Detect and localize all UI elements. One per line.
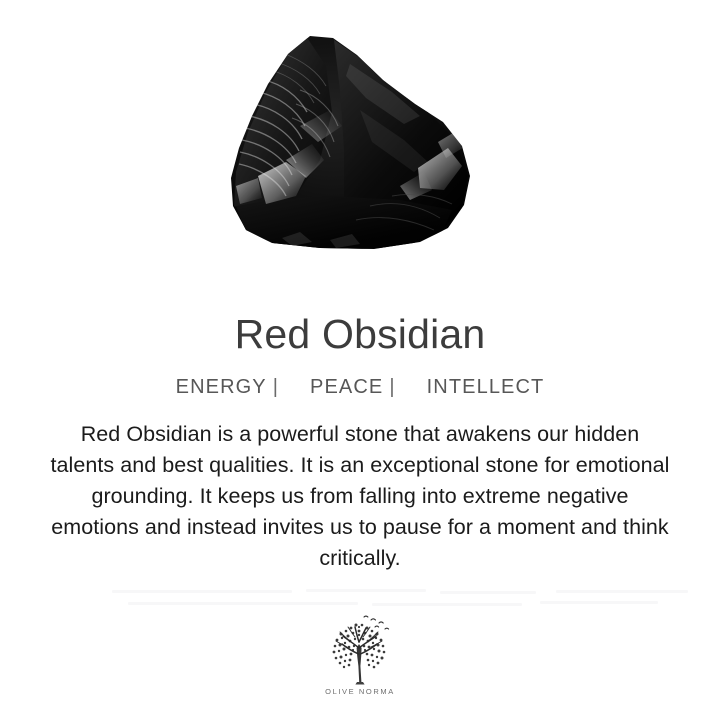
keyword-intellect: INTELLECT [427,377,545,397]
keyword-peace: PEACE [310,377,383,397]
stone-image [0,0,720,292]
scan-artifacts [0,588,720,614]
keyword-list: ENERGY | PEACE | INTELLECT [176,377,545,397]
product-info-card: Red Obsidian ENERGY | PEACE | INTELLECT … [0,0,720,720]
obsidian-stone-illustration [0,0,720,292]
page-title: Red Obsidian [235,314,486,355]
keyword-energy: ENERGY [176,377,267,397]
brand-name: OLIVE NORMA [325,688,395,696]
keyword-separator: | [383,377,400,397]
product-description: Red Obsidian is a powerful stone that aw… [50,419,670,574]
stone-facets [234,36,468,250]
olive-tree-icon [317,614,403,686]
brand-logo: OLIVE NORMA [0,614,720,696]
keyword-separator: | [267,377,284,397]
